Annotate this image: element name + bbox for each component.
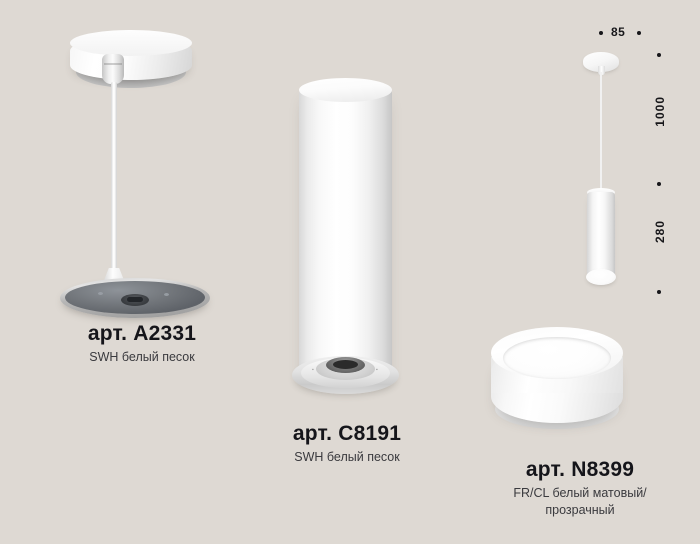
cylinder-socket-opening <box>333 360 358 369</box>
label-c8191: арт. C8191 SWH белый песок <box>252 422 442 466</box>
cylinder-marking: ▪ <box>312 367 314 373</box>
mounting-disc-screw <box>98 292 103 295</box>
mini-cylinder-body <box>587 192 615 280</box>
mounting-disc-screw <box>164 293 169 296</box>
mounting-disc-slot <box>127 297 143 302</box>
label-a2331: арт. A2331 SWH белый песок <box>32 322 252 366</box>
mini-pendant-cord <box>600 72 602 194</box>
dimension-dot-width-right <box>637 31 641 35</box>
dimension-width-label: 85 <box>611 25 625 39</box>
product-code-n8399: арт. N8399 <box>480 458 680 482</box>
cylinder-body <box>299 90 392 380</box>
label-n8399: арт. N8399 FR/CL белый матовый/ прозрачн… <box>480 458 680 519</box>
canopy-icon <box>70 36 192 92</box>
product-description-n8399-line2: прозрачный <box>480 502 680 519</box>
dimension-height-total-label: 1000 <box>653 96 667 127</box>
dimension-dot-top <box>657 53 661 57</box>
canopy-top-face <box>70 30 192 56</box>
cylinder-top-face <box>299 78 392 102</box>
product-description-c8191: SWH белый песок <box>252 449 442 466</box>
product-code-c8191: арт. C8191 <box>252 422 442 446</box>
dimension-dot-middle <box>657 182 661 186</box>
dimension-diagram: 85 1000 280 <box>575 20 700 305</box>
cylinder-marking: ▪ <box>376 367 378 373</box>
canopy-socket <box>102 54 124 84</box>
product-image-a2331 <box>52 22 232 312</box>
product-sheet: арт. A2331 SWH белый песок ▪ ▪ арт. C819… <box>0 0 700 544</box>
dimension-height-fixture-label: 280 <box>653 220 667 243</box>
product-image-n8399 <box>487 327 627 445</box>
product-code-a2331: арт. A2331 <box>32 322 252 346</box>
product-image-c8191: ▪ ▪ <box>290 78 400 398</box>
dimension-dot-bottom <box>657 290 661 294</box>
product-description-a2331: SWH белый песок <box>32 349 252 366</box>
product-description-n8399-line1: FR/CL белый матовый/ <box>480 485 680 502</box>
dimension-dot-width-left <box>599 31 603 35</box>
mini-diffuser-lens <box>586 269 616 285</box>
pendant-cord <box>111 82 117 278</box>
diffuser-frosted-lens <box>503 337 611 379</box>
